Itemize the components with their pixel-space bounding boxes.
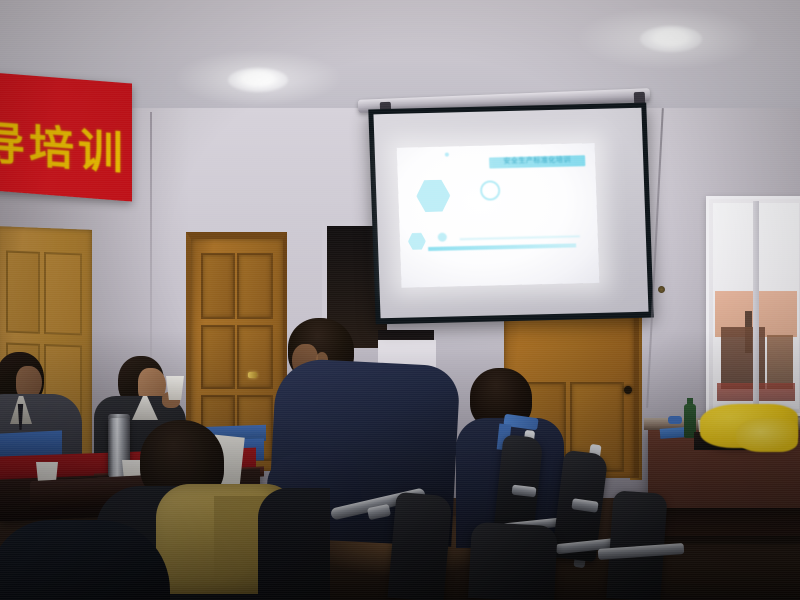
yellow-cloth-fold xyxy=(736,418,798,452)
banner-text: 导培训 xyxy=(0,106,130,183)
door-panel xyxy=(201,325,235,389)
projected-slide: 安全生产标准化培训 xyxy=(397,143,600,288)
chair-backrest[interactable] xyxy=(468,522,558,600)
screen-surface: 安全生产标准化培训 xyxy=(373,108,648,318)
blue-object-on-desk xyxy=(668,416,682,424)
slide-circle-shape xyxy=(480,180,501,200)
outside-furniture xyxy=(767,335,793,389)
paper-cup xyxy=(166,376,184,400)
window[interactable] xyxy=(706,196,800,416)
desk-shadow xyxy=(648,508,800,544)
door-handle-icon[interactable] xyxy=(248,372,257,378)
slide-title-bar: 安全生产标准化培训 xyxy=(489,155,585,168)
chair-backrest[interactable] xyxy=(387,492,452,600)
person-shoulder xyxy=(258,488,330,600)
ceiling-downlight-icon xyxy=(640,26,702,52)
red-training-banner: 导培训 xyxy=(0,72,132,201)
slide-dot-shape xyxy=(438,233,447,242)
slide-hexagon-shape xyxy=(408,232,427,250)
ceiling-downlight-icon xyxy=(228,68,288,92)
slide-divider xyxy=(460,235,580,240)
slide-divider xyxy=(428,243,576,251)
blue-object-on-desk xyxy=(660,427,687,439)
door-panel xyxy=(201,253,235,319)
projection-screen: 安全生产标准化培训 xyxy=(368,103,653,325)
room-photo-scene: 导培训 xyxy=(0,0,800,600)
wall-screw-icon xyxy=(658,286,665,293)
slide-dot-shape xyxy=(445,153,449,157)
window-mullion xyxy=(753,201,759,411)
door-handle-icon[interactable] xyxy=(624,386,632,394)
door-panel xyxy=(237,325,273,389)
slide-title-text: 安全生产标准化培训 xyxy=(489,154,585,166)
door-panel xyxy=(237,253,273,319)
slide-hexagon-shape xyxy=(416,178,451,213)
door-panel xyxy=(44,252,82,335)
door-panel xyxy=(6,251,40,334)
